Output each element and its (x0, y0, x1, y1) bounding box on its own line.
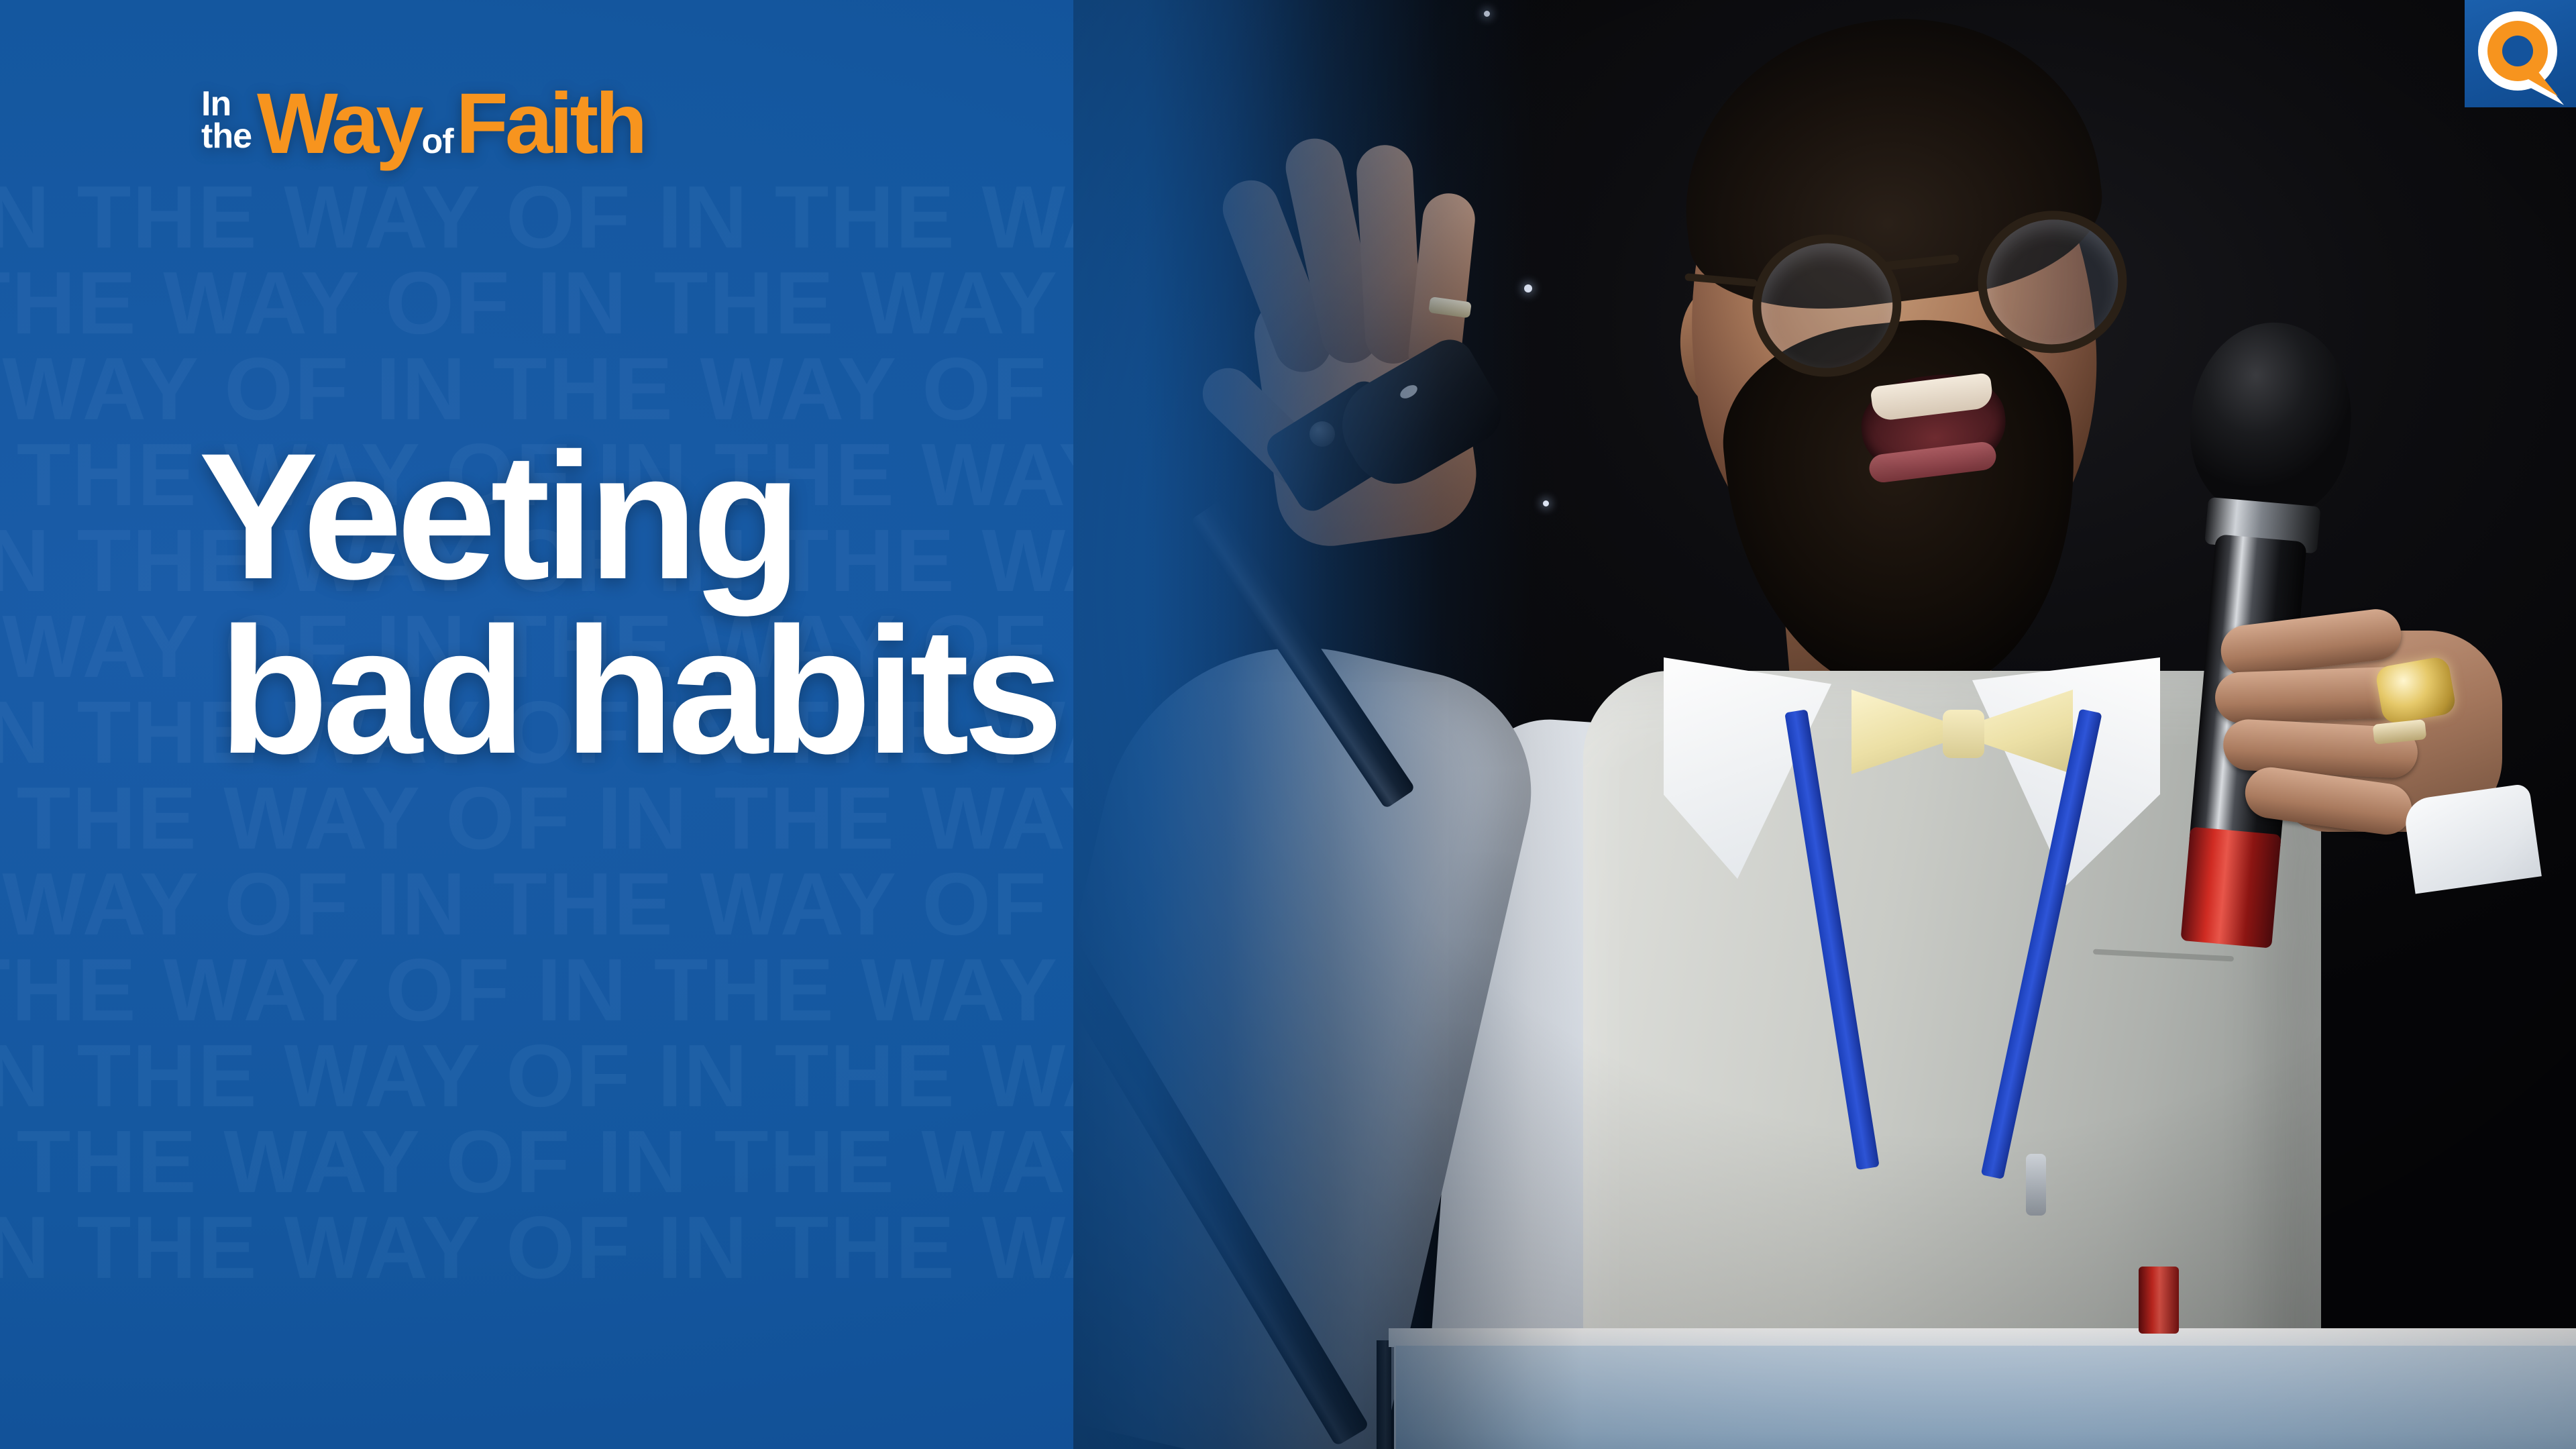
wordmark-line-in: In (201, 89, 231, 121)
glasses-bridge (1884, 254, 1960, 271)
bow-tie-knot (1943, 710, 1984, 758)
brand-wordmark[interactable]: In the Way of Faith (201, 87, 644, 161)
wordmark-in-the: In the (201, 89, 252, 161)
podium-red-mic-base (2139, 1267, 2179, 1334)
headline-title: Yeeting bad habits (199, 429, 1057, 778)
q-inner-hole (2502, 36, 2533, 66)
wordmark-of: of (421, 127, 453, 161)
speaker-figure (1073, 0, 2576, 1449)
speaker-photograph (1073, 0, 2576, 1449)
glasses-lens-right (1971, 203, 2134, 360)
microphone-windscreen (2183, 316, 2359, 524)
glasses-lens-left (1746, 227, 1909, 384)
podium (1389, 1328, 2576, 1449)
q-logo-badge[interactable] (2465, 0, 2576, 107)
bow-tie-right-wing (1972, 682, 2073, 782)
podium-top-surface (1389, 1328, 2576, 1347)
podium-side-edge (1377, 1340, 1391, 1449)
podium-front-panel (1394, 1346, 2576, 1449)
microphone-holding-hand (2214, 590, 2529, 879)
headline-line-1: Yeeting (199, 415, 796, 616)
q-speech-bubble-icon (2478, 11, 2563, 96)
bow-tie-left-wing (1851, 682, 1952, 782)
wordmark-faith: Faith (456, 87, 645, 161)
wordmark-line-the: the (201, 121, 252, 153)
video-thumbnail: IN THE WAY OF IN THE WAY OF IN THE WAY O… (0, 0, 2576, 1449)
wordmark-way: Way (257, 87, 420, 161)
raised-hand (1199, 94, 1571, 563)
shirt-cuff (2402, 783, 2542, 894)
headline-line-2: bad habits (219, 604, 1057, 778)
lanyard-clip (2026, 1154, 2046, 1216)
bow-tie (1851, 671, 2073, 798)
mic-stand-adjust-knob (1309, 421, 1335, 447)
